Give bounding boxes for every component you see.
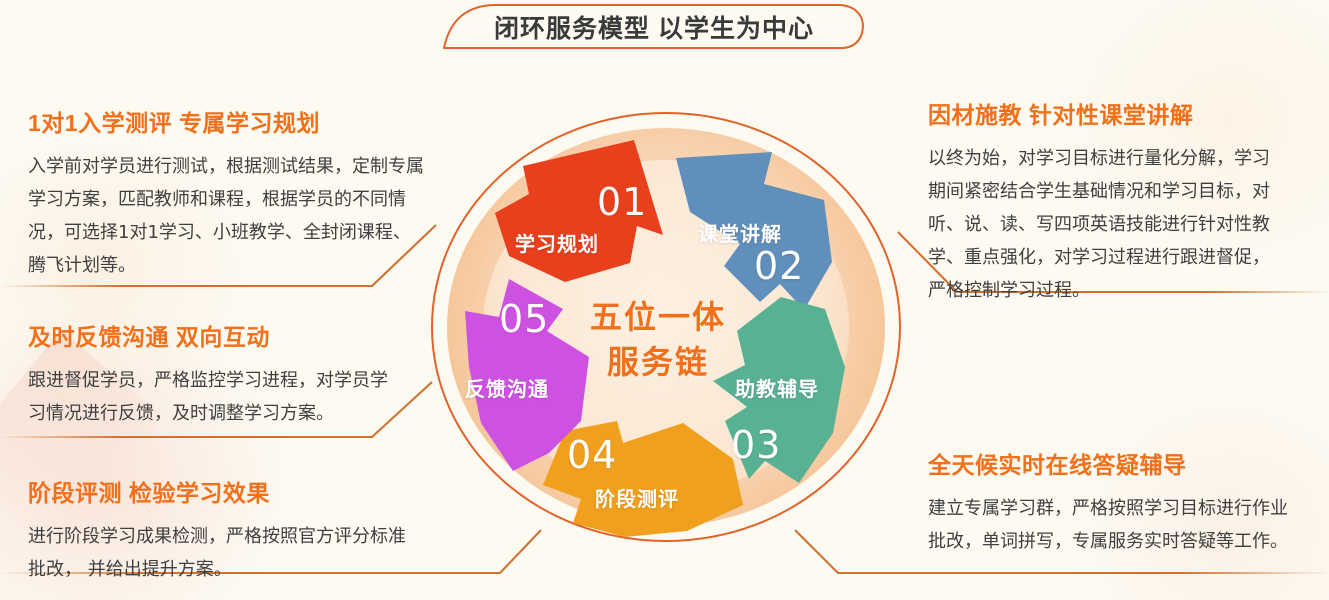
cycle-step-02-number: 02 [754, 244, 804, 288]
feature-block-left-1-title: 1对1入学测评 专属学习规划 [28, 104, 428, 138]
feature-block-left-2: 及时反馈沟通 双向互动 跟进督促学员，严格监控学习进程，对学员学习情况进行反馈，… [28, 318, 403, 430]
cycle-step-05[interactable]: 05 反馈沟通 [451, 275, 611, 473]
feature-block-left-3: 阶段评测 检验学习效果 进行阶段学习成果检测，严格按照官方评分标准批改， 并给出… [28, 474, 423, 586]
feature-block-left-3-title: 阶段评测 检验学习效果 [28, 474, 423, 508]
header-banner: 闭环服务模型 以学生为中心 [438, 3, 870, 51]
infographic-canvas: 闭环服务模型 以学生为中心 五位一体 服务链 01 学习规划 02 课堂讲解 0… [0, 0, 1329, 600]
cycle-step-05-label: 反馈沟通 [465, 373, 549, 402]
cycle-step-01[interactable]: 01 学习规划 [487, 138, 672, 283]
cycle-step-02-label: 课堂讲解 [698, 218, 782, 247]
cycle-step-03-label: 助教辅导 [735, 373, 819, 402]
feature-block-left-2-body: 跟进督促学员，严格监控学习进程，对学员学习情况进行反馈，及时调整学习方案。 [28, 364, 403, 430]
feature-block-right-1-body: 以终为始，对学习目标进行量化分解，学习期间紧密结合学生基础情况和学习目标，对听、… [928, 142, 1273, 307]
cycle-step-05-number: 05 [499, 297, 549, 341]
feature-block-right-2: 全天候实时在线答疑辅导 建立专属学习群，严格按照学习目标进行作业批改，单词拼写，… [928, 446, 1288, 558]
cycle-step-01-label: 学习规划 [515, 228, 599, 257]
feature-block-left-2-title: 及时反馈沟通 双向互动 [28, 318, 403, 352]
feature-block-left-1-body: 入学前对学员进行测试，根据测试结果，定制专属学习方案，匹配教师和课程，根据学员的… [28, 150, 428, 282]
feature-block-right-2-body: 建立专属学习群，严格按照学习目标进行作业批改，单词拼写，专属服务实时答疑等工作。 [928, 492, 1288, 558]
feature-block-right-2-title: 全天候实时在线答疑辅导 [928, 446, 1288, 480]
feature-block-right-1: 因材施教 针对性课堂讲解 以终为始，对学习目标进行量化分解，学习期间紧密结合学生… [928, 96, 1273, 307]
feature-block-right-1-title: 因材施教 针对性课堂讲解 [928, 96, 1273, 130]
cycle-step-04-label: 阶段测评 [595, 483, 679, 512]
feature-block-left-1: 1对1入学测评 专属学习规划 入学前对学员进行测试，根据测试结果，定制专属学习方… [28, 104, 428, 282]
header-title: 闭环服务模型 以学生为中心 [438, 3, 870, 51]
cycle-step-01-number: 01 [597, 180, 647, 224]
feature-block-left-3-body: 进行阶段学习成果检测，严格按照官方评分标准批改， 并给出提升方案。 [28, 520, 423, 586]
